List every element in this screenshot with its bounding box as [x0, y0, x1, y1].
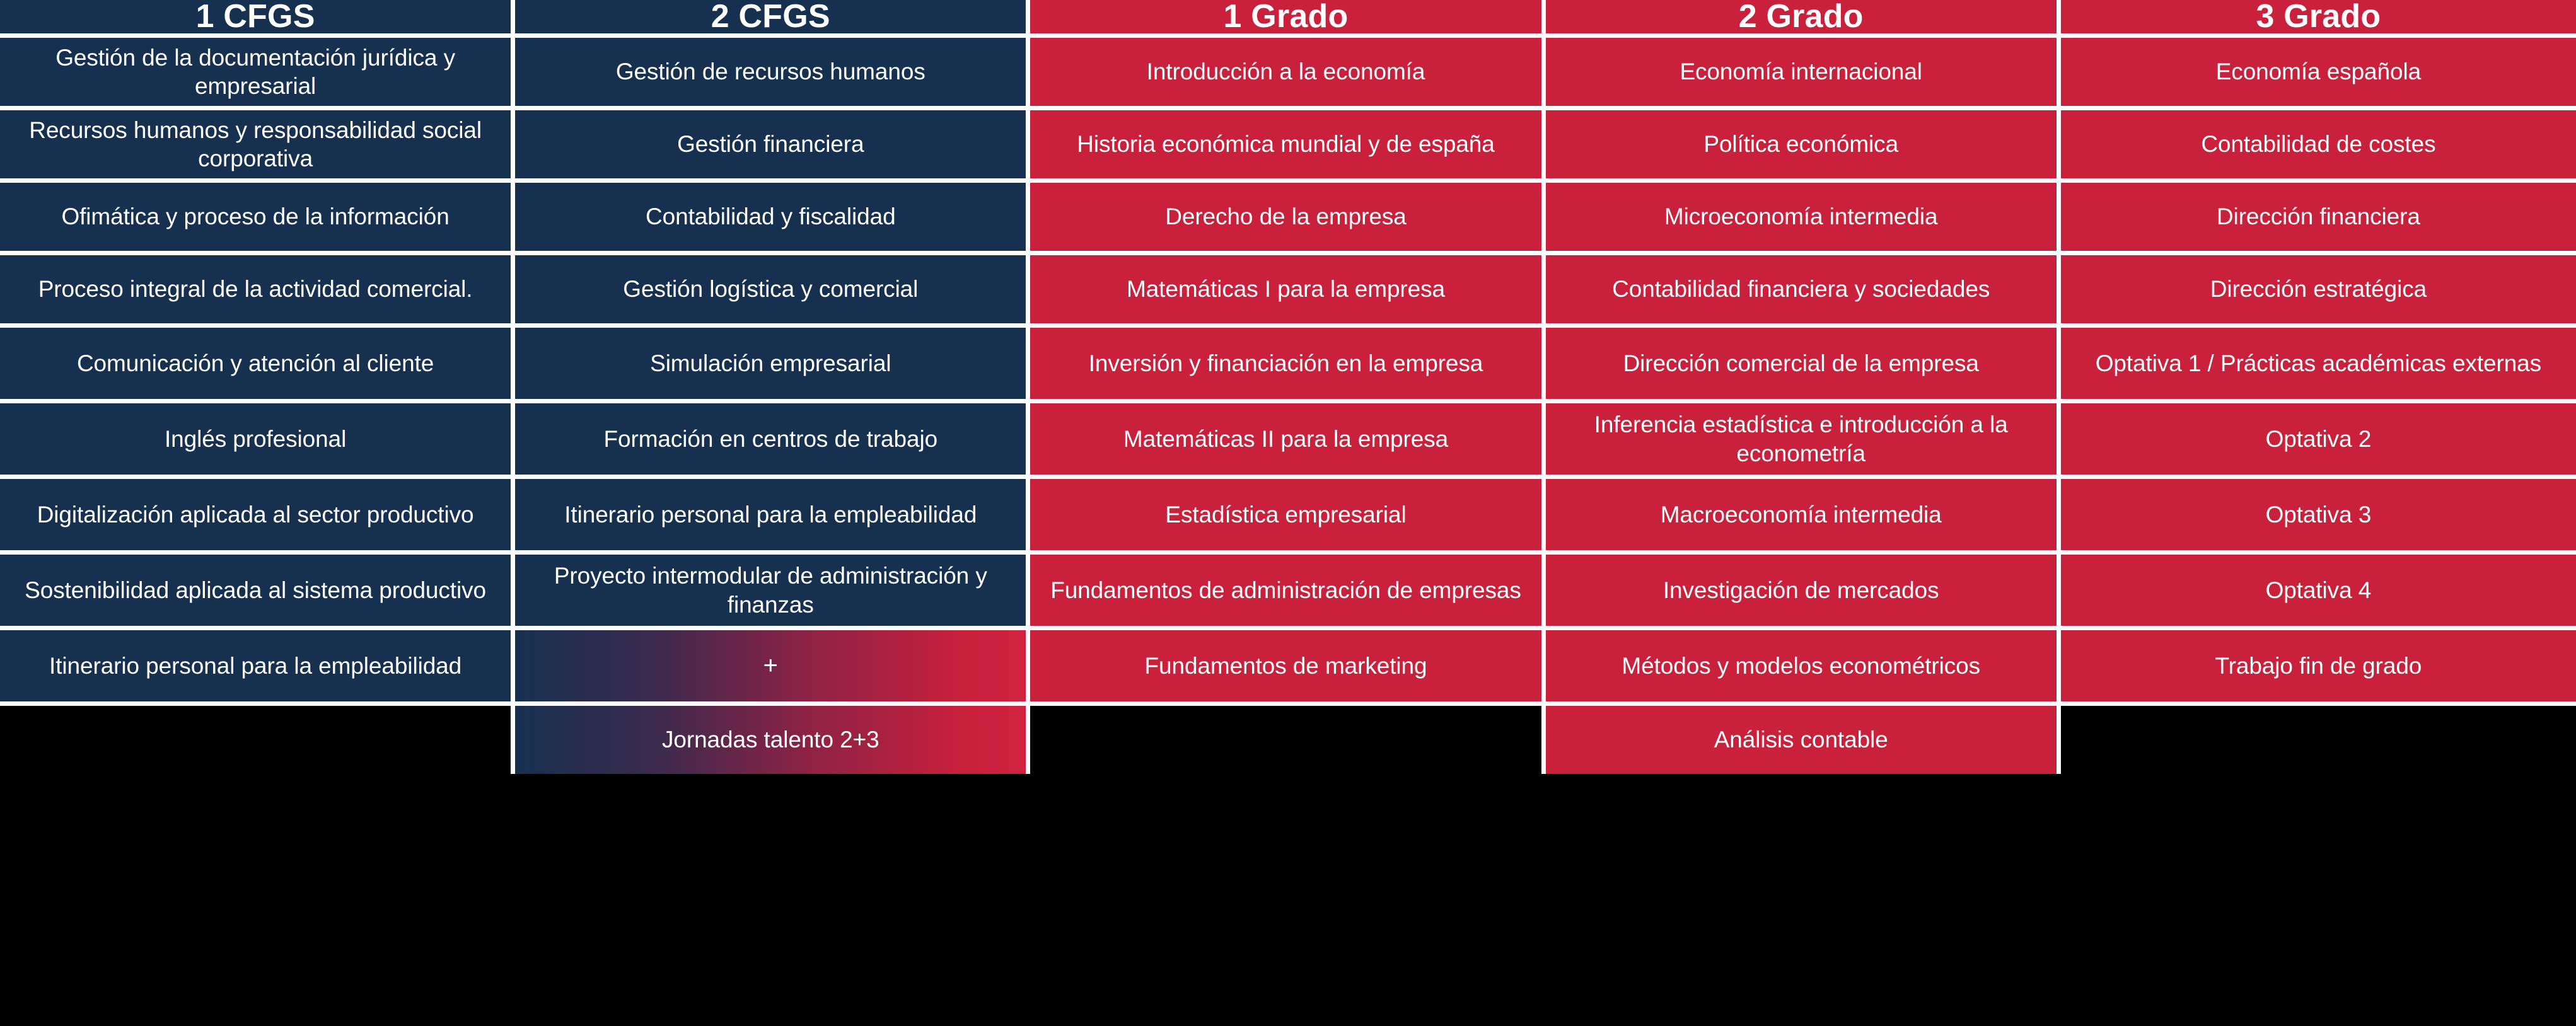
subject-cell: Matemáticas I para la empresa [1030, 255, 1545, 328]
subject-cell: Gestión de la documentación jurídica y e… [0, 38, 515, 110]
subject-cell: Macroeconomía intermedia [1546, 479, 2061, 555]
column-header-3: 1 Grado [1030, 0, 1545, 38]
subject-label: Formación en centros de trabajo [524, 425, 1017, 453]
subject-cell: Comunicación y atención al cliente [0, 328, 515, 403]
subject-cell: Simulación empresarial [515, 328, 1030, 403]
subject-label: Itinerario personal para la empleabilida… [524, 500, 1017, 529]
subject-cell: Fundamentos de marketing [1030, 630, 1545, 706]
subject-cell: Estadística empresarial [1030, 479, 1545, 555]
subject-cell: Dirección financiera [2061, 183, 2576, 255]
subject-label: Inferencia estadística e introducción a … [1555, 410, 2048, 467]
subject-cell: Contabilidad y fiscalidad [515, 183, 1030, 255]
subject-label: Dirección financiera [2070, 202, 2567, 231]
subject-label: Proceso integral de la actividad comerci… [9, 275, 502, 303]
subject-cell: Investigación de mercados [1546, 555, 2061, 630]
subject-cell: Jornadas talento 2+3 [515, 706, 1030, 774]
subject-label: + [524, 650, 1017, 681]
subject-cell: Microeconomía intermedia [1546, 183, 2061, 255]
empty-cell [0, 706, 515, 774]
column-header-label: 1 CFGS [9, 0, 502, 37]
subject-label: Fundamentos de administración de empresa… [1039, 576, 1532, 604]
column-header-2: 2 CFGS [515, 0, 1030, 38]
subject-cell: Optativa 3 [2061, 479, 2576, 555]
subject-label: Estadística empresarial [1039, 500, 1532, 529]
subject-cell: Contabilidad financiera y sociedades [1546, 255, 2061, 328]
subject-cell: Trabajo fin de grado [2061, 630, 2576, 706]
subject-label: Historia económica mundial y de españa [1039, 130, 1532, 158]
subject-label: Digitalización aplicada al sector produc… [9, 500, 502, 529]
subject-label: Contabilidad y fiscalidad [524, 202, 1017, 231]
subject-cell: Historia económica mundial y de españa [1030, 110, 1545, 183]
subject-label: Introducción a la economía [1039, 57, 1532, 86]
column-header-5: 3 Grado [2061, 0, 2576, 38]
subject-label: Contabilidad de costes [2070, 130, 2567, 158]
subject-label: Gestión de recursos humanos [524, 57, 1017, 86]
subject-label: Optativa 1 / Prácticas académicas extern… [2070, 349, 2567, 378]
subject-cell: Proceso integral de la actividad comerci… [0, 255, 515, 328]
subject-cell: Optativa 2 [2061, 403, 2576, 479]
subject-label: Comunicación y atención al cliente [9, 349, 502, 378]
subject-label: Gestión logística y comercial [524, 275, 1017, 303]
subject-label: Itinerario personal para la empleabilida… [9, 652, 502, 680]
subject-label: Simulación empresarial [524, 349, 1017, 378]
subject-cell: Gestión logística y comercial [515, 255, 1030, 328]
subject-label: Política económica [1555, 130, 2048, 158]
subject-cell: Optativa 1 / Prácticas académicas extern… [2061, 328, 2576, 403]
subject-cell: Itinerario personal para la empleabilida… [515, 479, 1030, 555]
subject-cell: Dirección comercial de la empresa [1546, 328, 2061, 403]
subject-cell: Política económica [1546, 110, 2061, 183]
subject-label: Fundamentos de marketing [1039, 652, 1532, 680]
subject-label: Inglés profesional [9, 425, 502, 453]
subject-label: Matemáticas I para la empresa [1039, 275, 1532, 303]
subject-label: Jornadas talento 2+3 [524, 725, 1017, 754]
subject-label: Ofimática y proceso de la información [9, 202, 502, 231]
subject-label: Microeconomía intermedia [1555, 202, 2048, 231]
subject-cell: Fundamentos de administración de empresa… [1030, 555, 1545, 630]
subject-label: Análisis contable [1555, 725, 2048, 754]
empty-cell [1030, 706, 1545, 774]
subject-label: Matemáticas II para la empresa [1039, 425, 1532, 453]
subject-cell: Economía internacional [1546, 38, 2061, 110]
subject-label: Sostenibilidad aplicada al sistema produ… [9, 576, 502, 604]
subject-label: Trabajo fin de grado [2070, 652, 2567, 680]
subject-label: Optativa 4 [2070, 576, 2567, 604]
column-header-label: 2 CFGS [524, 0, 1017, 37]
subject-label: Macroeconomía intermedia [1555, 500, 2048, 529]
subject-label: Gestión de la documentación jurídica y e… [9, 43, 502, 100]
subject-cell: Gestión de recursos humanos [515, 38, 1030, 110]
subject-cell: Análisis contable [1546, 706, 2061, 774]
curriculum-comparison-table: 1 CFGS2 CFGS1 Grado2 Grado3 GradoGestión… [0, 0, 2576, 1026]
column-header-label: 3 Grado [2070, 0, 2567, 37]
column-header-label: 2 Grado [1555, 0, 2048, 37]
subject-cell: Inglés profesional [0, 403, 515, 479]
subject-label: Optativa 3 [2070, 500, 2567, 529]
subject-cell: Recursos humanos y responsabilidad socia… [0, 110, 515, 183]
subject-label: Métodos y modelos econométricos [1555, 652, 2048, 680]
subject-cell: Dirección estratégica [2061, 255, 2576, 328]
subject-cell: Contabilidad de costes [2061, 110, 2576, 183]
subject-label: Gestión financiera [524, 130, 1017, 158]
subject-label: Contabilidad financiera y sociedades [1555, 275, 2048, 303]
subject-label: Investigación de mercados [1555, 576, 2048, 604]
subject-cell: Métodos y modelos econométricos [1546, 630, 2061, 706]
subject-cell: Proyecto intermodular de administración … [515, 555, 1030, 630]
column-header-label: 1 Grado [1039, 0, 1532, 37]
subject-cell: Digitalización aplicada al sector produc… [0, 479, 515, 555]
subject-label: Proyecto intermodular de administración … [524, 562, 1017, 618]
subject-cell: Ofimática y proceso de la información [0, 183, 515, 255]
subject-label: Derecho de la empresa [1039, 202, 1532, 231]
subject-label: Inversión y financiación en la empresa [1039, 349, 1532, 378]
subject-label: Dirección comercial de la empresa [1555, 349, 2048, 378]
subject-label: Recursos humanos y responsabilidad socia… [9, 116, 502, 173]
subject-cell: Itinerario personal para la empleabilida… [0, 630, 515, 706]
subject-cell: Economía española [2061, 38, 2576, 110]
subject-cell: Optativa 4 [2061, 555, 2576, 630]
subject-cell: Formación en centros de trabajo [515, 403, 1030, 479]
subject-cell: Sostenibilidad aplicada al sistema produ… [0, 555, 515, 630]
subject-cell: Matemáticas II para la empresa [1030, 403, 1545, 479]
subject-label: Optativa 2 [2070, 425, 2567, 453]
subject-cell: Introducción a la economía [1030, 38, 1545, 110]
subject-label: Economía española [2070, 57, 2567, 86]
subject-cell: + [515, 630, 1030, 706]
subject-cell: Inferencia estadística e introducción a … [1546, 403, 2061, 479]
subject-label: Economía internacional [1555, 57, 2048, 86]
empty-cell [2061, 706, 2576, 774]
column-header-4: 2 Grado [1546, 0, 2061, 38]
subject-cell: Inversión y financiación en la empresa [1030, 328, 1545, 403]
column-header-1: 1 CFGS [0, 0, 515, 38]
subject-cell: Derecho de la empresa [1030, 183, 1545, 255]
subject-cell: Gestión financiera [515, 110, 1030, 183]
subject-label: Dirección estratégica [2070, 275, 2567, 303]
